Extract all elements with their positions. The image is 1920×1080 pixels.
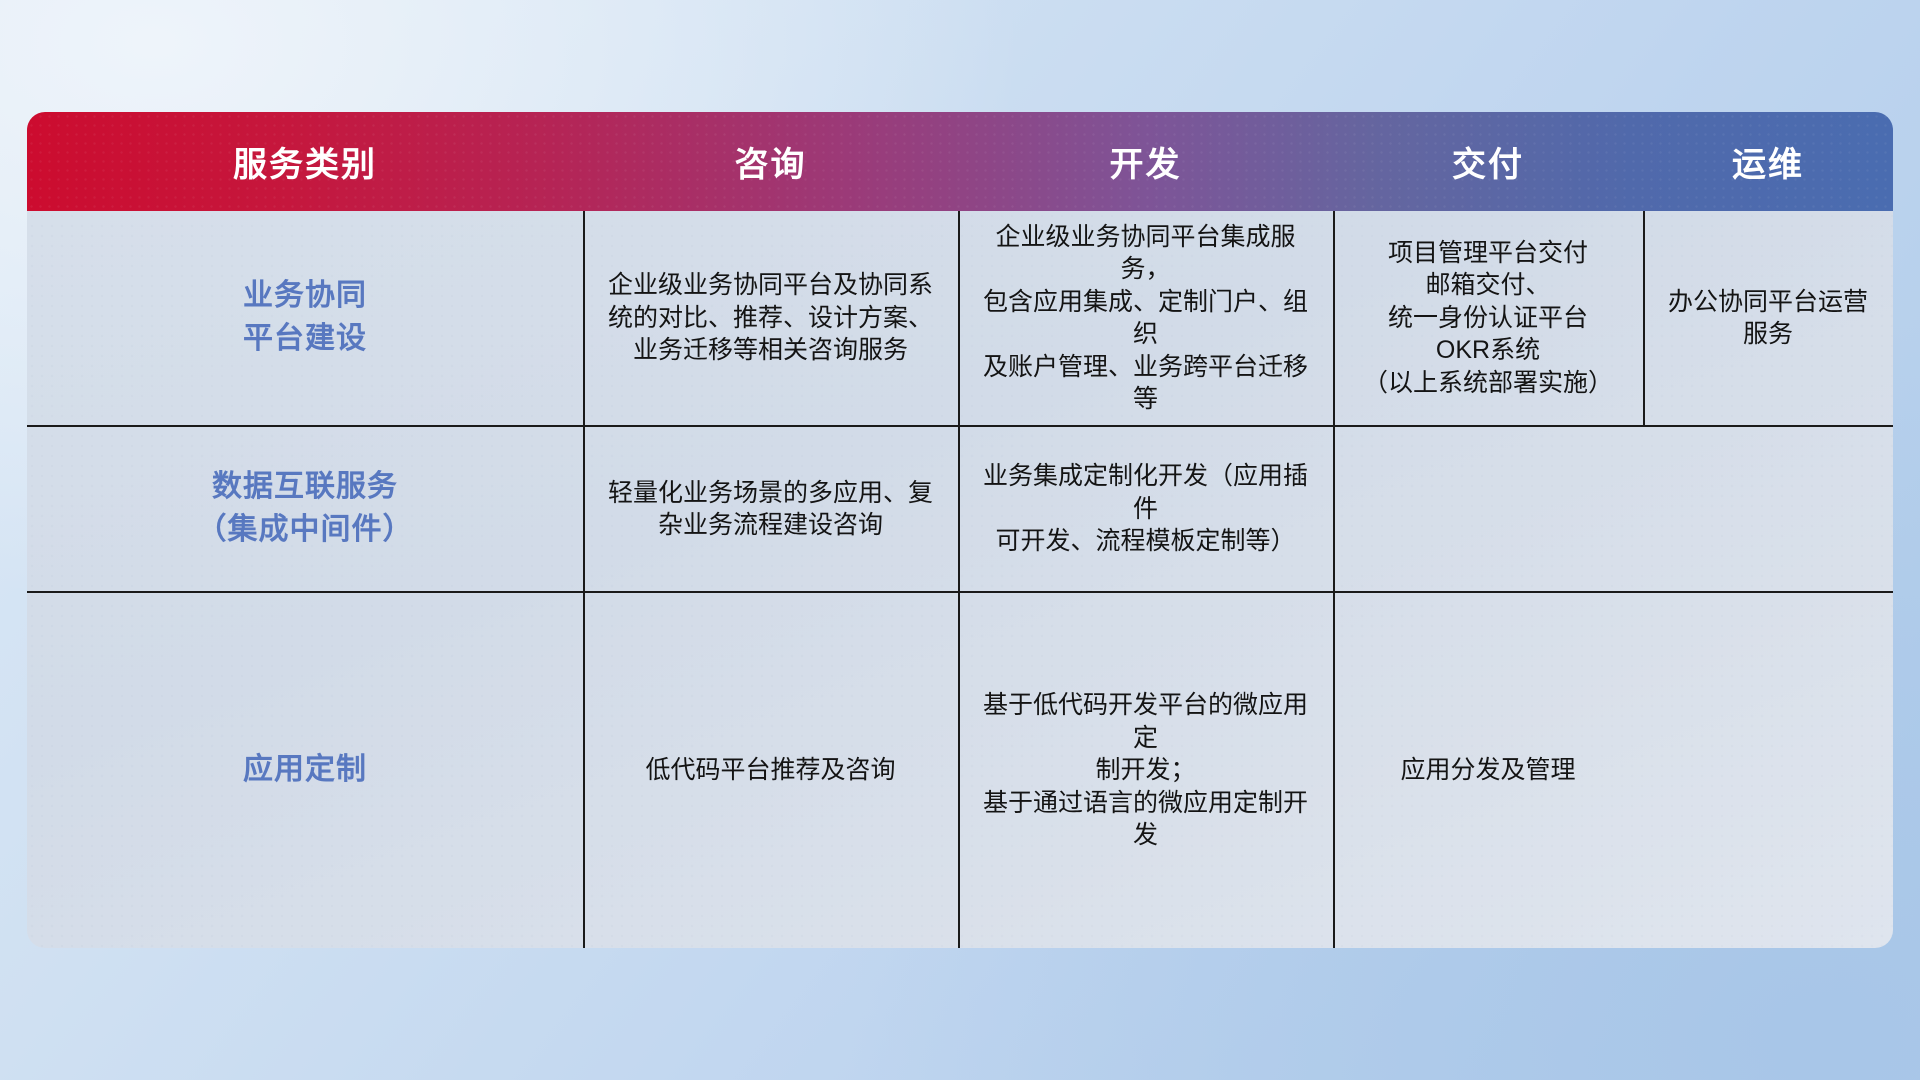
column-divider-3 (1333, 211, 1335, 948)
column-divider-1 (583, 211, 585, 948)
cell-consulting: 企业级业务协同平台及协同系 统的对比、推荐、设计方案、 业务迁移等相关咨询服务 (583, 211, 958, 425)
column-header-operations: 运维 (1643, 137, 1893, 186)
column-header-consulting: 咨询 (583, 137, 958, 186)
column-divider-4 (1643, 211, 1645, 426)
row-category-label: 数据互联服务 （集成中间件） (27, 427, 583, 591)
row-category-label: 业务协同 平台建设 (27, 211, 583, 425)
cell-development: 基于低代码开发平台的微应用定 制开发； 基于通过语言的微应用定制开发 (958, 593, 1333, 948)
cell-consulting: 低代码平台推荐及咨询 (583, 593, 958, 948)
slide-canvas: 服务类别 咨询 开发 交付 运维 业务协同 平台建设 企业级业务协同平台及协同系… (0, 0, 1920, 1080)
cell-delivery: 项目管理平台交付 邮箱交付、 统一身份认证平台 OKR系统 （以上系统部署实施） (1333, 211, 1643, 425)
cell-consulting: 轻量化业务场景的多应用、复 杂业务流程建设咨询 (583, 427, 958, 591)
cell-operations (1643, 427, 1893, 591)
table-row: 业务协同 平台建设 企业级业务协同平台及协同系 统的对比、推荐、设计方案、 业务… (27, 211, 1893, 425)
cell-operations (1643, 593, 1893, 948)
cell-delivery (1333, 427, 1643, 591)
table-row: 数据互联服务 （集成中间件） 轻量化业务场景的多应用、复 杂业务流程建设咨询 业… (27, 427, 1893, 591)
cell-development: 企业级业务协同平台集成服务， 包含应用集成、定制门户、组织 及账户管理、业务跨平… (958, 211, 1333, 425)
table-row: 应用定制 低代码平台推荐及咨询 基于低代码开发平台的微应用定 制开发； 基于通过… (27, 593, 1893, 948)
service-matrix-table: 服务类别 咨询 开发 交付 运维 业务协同 平台建设 企业级业务协同平台及协同系… (27, 112, 1893, 948)
cell-development: 业务集成定制化开发（应用插件 可开发、流程模板定制等） (958, 427, 1333, 591)
column-divider-2 (958, 211, 960, 948)
column-header-development: 开发 (958, 137, 1333, 186)
row-category-label: 应用定制 (27, 593, 583, 948)
column-header-category: 服务类别 (27, 137, 583, 186)
table-body: 业务协同 平台建设 企业级业务协同平台及协同系 统的对比、推荐、设计方案、 业务… (27, 211, 1893, 948)
cell-operations: 办公协同平台运营服务 (1643, 211, 1893, 425)
table-header-row: 服务类别 咨询 开发 交付 运维 (27, 112, 1893, 211)
cell-delivery: 应用分发及管理 (1333, 593, 1643, 948)
row-divider-1 (27, 425, 1893, 427)
row-divider-2 (27, 591, 1893, 593)
column-header-delivery: 交付 (1333, 137, 1643, 186)
